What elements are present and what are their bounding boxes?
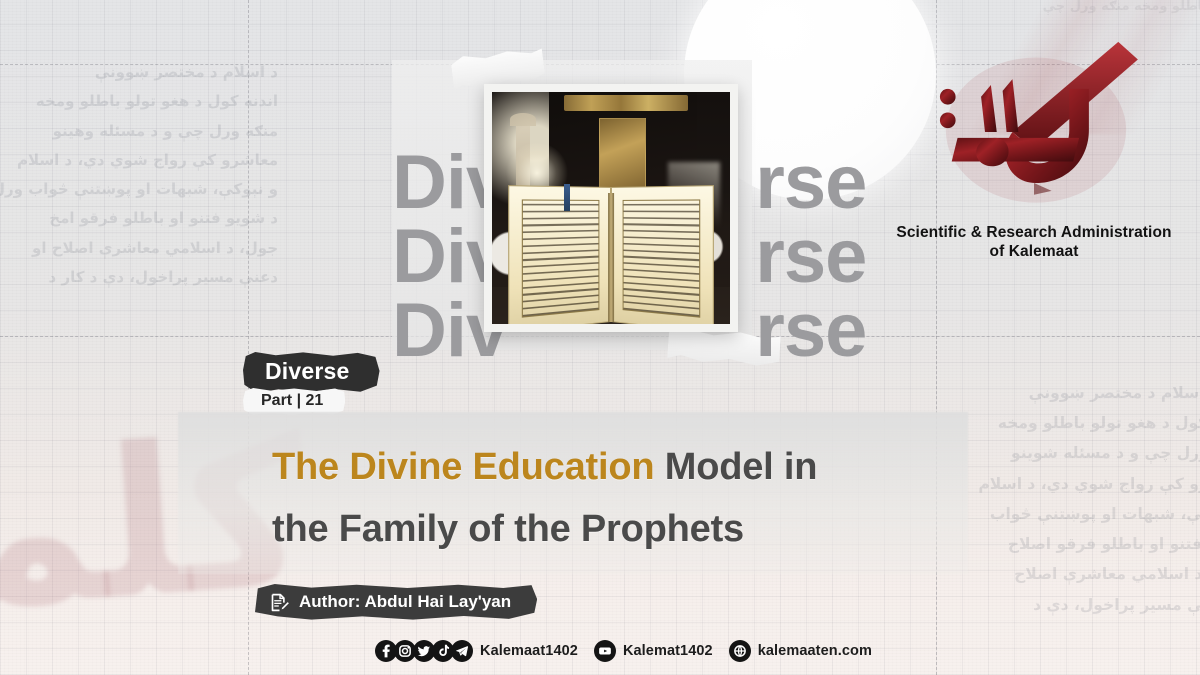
open-quran bbox=[513, 187, 708, 322]
kaaba-gold-band bbox=[564, 95, 688, 111]
social-handle: Kalemaat1402 bbox=[480, 643, 578, 659]
quran-text-block bbox=[522, 200, 600, 318]
brand-logo-block: Scientific & Research Administration of … bbox=[884, 36, 1184, 262]
diverse-ghost-tail: rse bbox=[755, 288, 866, 373]
hero-image-frame bbox=[484, 84, 738, 332]
quran-page-right bbox=[611, 185, 713, 324]
kalemaat-logo bbox=[884, 36, 1184, 232]
brand-subtitle-line-2: of Kalemaat bbox=[884, 243, 1184, 262]
diverse-ghost-tail: rse bbox=[755, 214, 866, 299]
telegram-icon[interactable] bbox=[451, 640, 473, 662]
social-group-website: kalemaaten.com bbox=[729, 640, 888, 662]
part-badge: Part | 21 bbox=[243, 388, 345, 415]
quran-text-block bbox=[622, 200, 700, 318]
poster-canvas: د اسلام د مختصر ښوونې اندنه کول د هغو تو… bbox=[0, 0, 1200, 675]
hero-image-quran-kaaba bbox=[492, 92, 730, 324]
kalemaat-logo-mark bbox=[884, 36, 1184, 232]
title-accent-text: The Divine Education bbox=[272, 446, 654, 488]
title-line-two: the Family of the Prophets bbox=[272, 508, 744, 550]
page-title: The Divine Education Model in the Family… bbox=[272, 437, 972, 560]
social-handle: Kalemat1402 bbox=[623, 643, 713, 659]
title-rest-text: Model in bbox=[654, 446, 817, 488]
diverse-ghost-tail: rse bbox=[755, 140, 866, 225]
social-group-youtube: Kalemat1402 bbox=[594, 640, 729, 662]
quran-page-left bbox=[509, 185, 611, 324]
social-handle: kalemaaten.com bbox=[758, 643, 872, 659]
quran-spine bbox=[608, 193, 614, 322]
document-pencil-icon bbox=[269, 592, 290, 613]
youtube-icon[interactable] bbox=[594, 640, 616, 662]
background-watermark-text-left: د اسلام د مختصر ښوونې اندنه کول د هغو تو… bbox=[0, 58, 278, 292]
kaaba-door bbox=[599, 118, 645, 195]
author-label: Author: Abdul Hai Lay'yan bbox=[299, 592, 511, 612]
category-badge: Diverse bbox=[243, 352, 380, 393]
social-bar: Kalemaat1402 Kalemat1402 kalemaaten.com bbox=[375, 638, 888, 664]
author-badge: Author: Abdul Hai Lay'yan bbox=[255, 584, 537, 620]
social-group-main: Kalemaat1402 bbox=[375, 640, 594, 662]
globe-icon[interactable] bbox=[729, 640, 751, 662]
quran-bookmark bbox=[564, 184, 570, 211]
